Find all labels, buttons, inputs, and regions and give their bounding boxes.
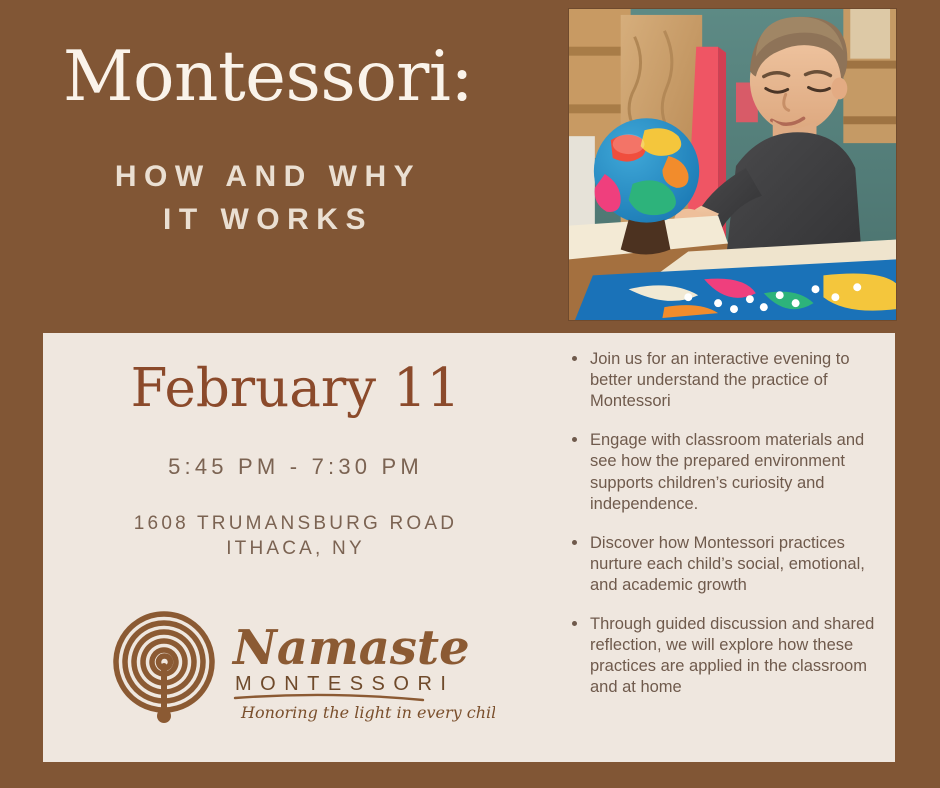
subtitle-line-1: HOW AND WHY — [6, 156, 530, 199]
namaste-montessori-logo: Namaste MONTESSORI Honoring the light in… — [105, 606, 495, 726]
logo-wordmark: MONTESSORI — [235, 673, 454, 695]
logo-tagline: Honoring the light in every child — [240, 703, 495, 722]
address-line-2: ITHACA, NY — [43, 537, 548, 562]
list-item: Engage with classroom materials and see … — [570, 430, 881, 514]
event-details-column: February 11 5:45 PM - 7:30 PM 1608 TRUMA… — [43, 333, 548, 762]
list-item: Discover how Montessori practices nurtur… — [570, 533, 881, 596]
list-item-text: Through guided discussion and shared ref… — [590, 615, 874, 696]
list-item: Through guided discussion and shared ref… — [570, 614, 881, 698]
title-block: Montessori: HOW AND WHY IT WORKS — [0, 42, 530, 242]
list-item-text: Engage with classroom materials and see … — [590, 431, 864, 512]
event-address: 1608 TRUMANSBURG ROAD ITHACA, NY — [43, 480, 548, 561]
page-subtitle: HOW AND WHY IT WORKS — [0, 156, 530, 241]
list-item-text: Join us for an interactive evening to be… — [590, 350, 850, 410]
page-title: Montessori: — [0, 42, 530, 112]
bullet-dot-icon — [572, 437, 577, 442]
bullet-dot-icon — [572, 621, 577, 626]
list-item-text: Discover how Montessori practices nurtur… — [590, 534, 865, 594]
child-with-montessori-globe-photo — [568, 8, 897, 321]
address-line-1: 1608 TRUMANSBURG ROAD — [43, 512, 548, 537]
highlights-list: Join us for an interactive evening to be… — [548, 349, 895, 699]
highlights-column: Join us for an interactive evening to be… — [548, 333, 895, 762]
list-item: Join us for an interactive evening to be… — [570, 349, 881, 412]
event-time: 5:45 PM - 7:30 PM — [43, 418, 548, 480]
event-date: February 11 — [43, 333, 548, 418]
content-panel: February 11 5:45 PM - 7:30 PM 1608 TRUMA… — [43, 333, 895, 762]
bullet-dot-icon — [572, 356, 577, 361]
bullet-dot-icon — [572, 540, 577, 545]
logo-script-name: Namaste — [231, 620, 470, 676]
flyer-canvas: Montessori: HOW AND WHY IT WORKS — [0, 0, 940, 788]
subtitle-line-2: IT WORKS — [6, 199, 530, 242]
